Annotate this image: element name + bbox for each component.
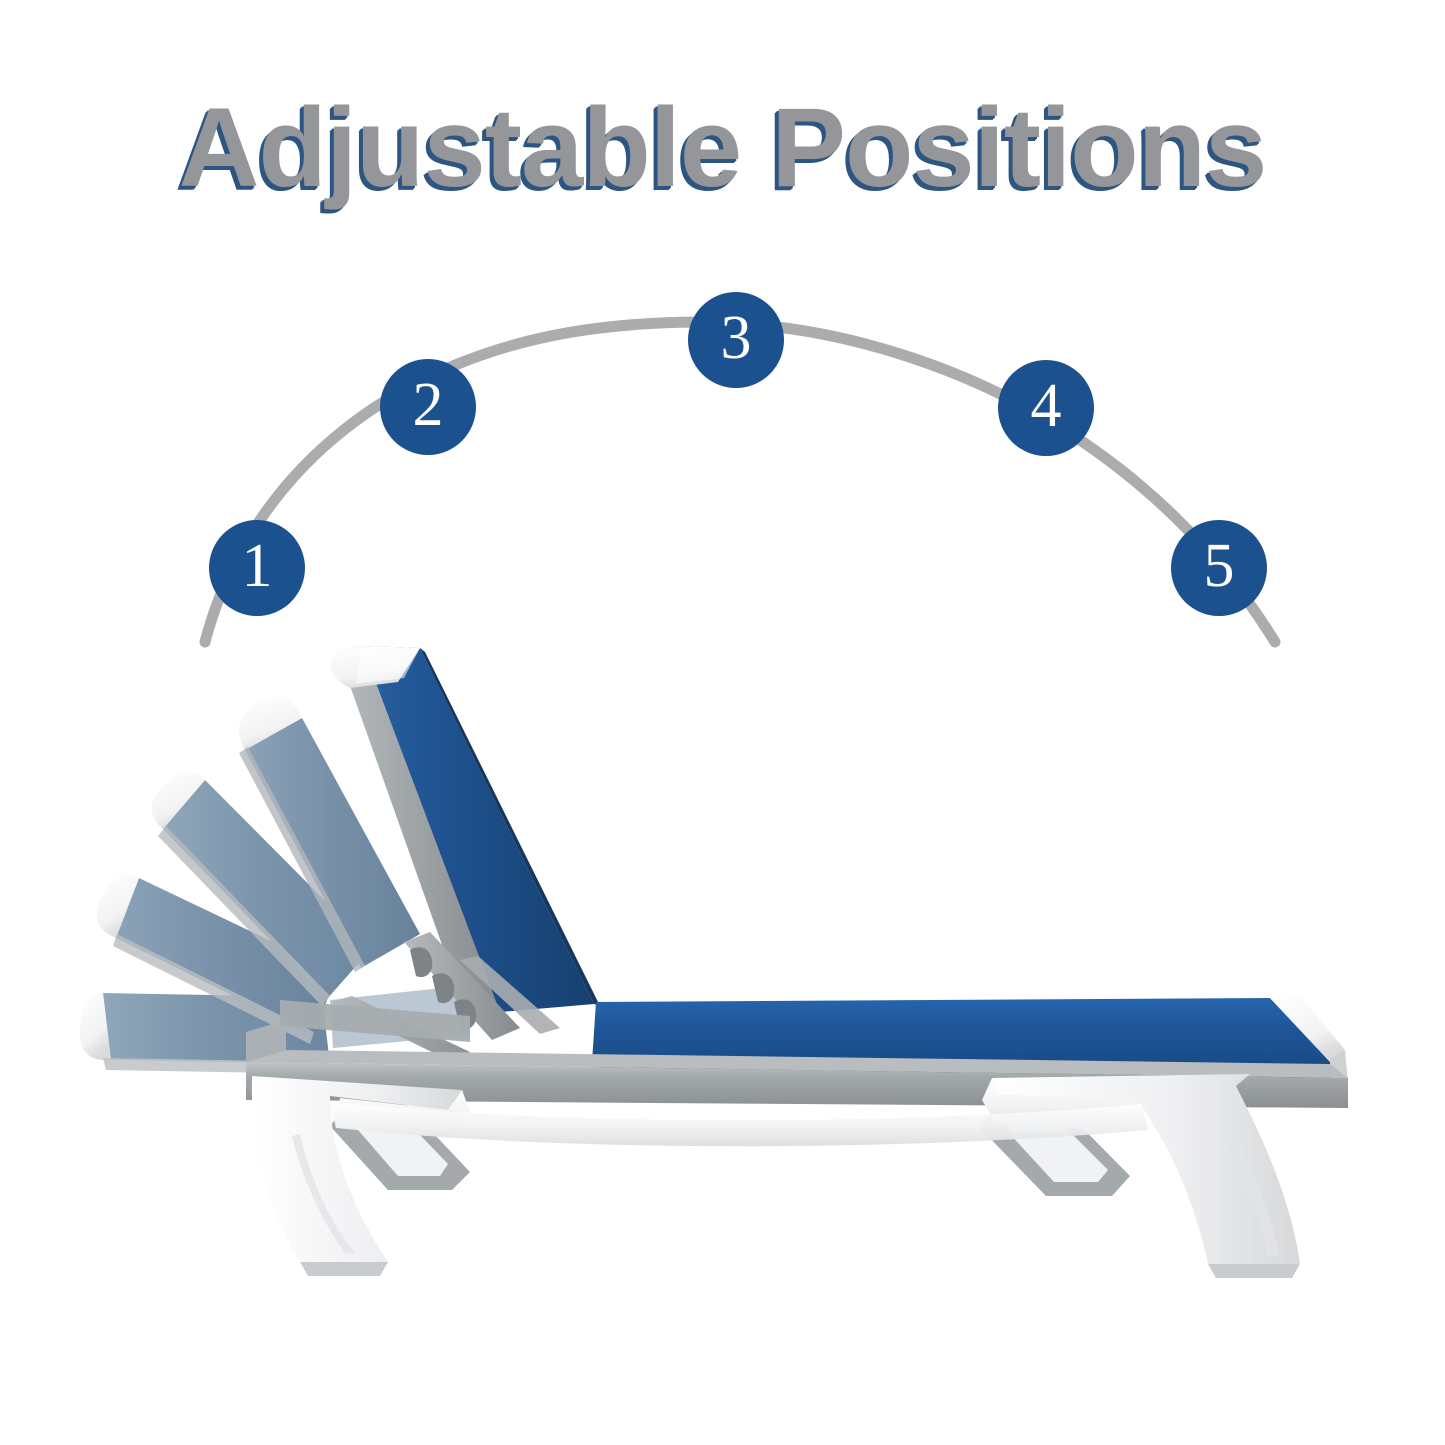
- step-marker-2[interactable]: 2: [380, 359, 476, 455]
- step-marker-3-label: 3: [721, 307, 752, 373]
- step-marker-4[interactable]: 4: [998, 360, 1094, 456]
- step-marker-3[interactable]: 3: [688, 292, 784, 388]
- step-marker-2-label: 2: [413, 374, 444, 440]
- product-illustration: [0, 0, 1445, 1445]
- chaise-lounge-group: [80, 646, 1348, 1278]
- infographic-canvas: Adjustable Positions: [0, 0, 1445, 1445]
- step-marker-5[interactable]: 5: [1171, 520, 1267, 616]
- step-marker-1[interactable]: 1: [209, 520, 305, 616]
- step-marker-1-label: 1: [242, 535, 273, 601]
- step-marker-4-label: 4: [1031, 375, 1062, 441]
- step-marker-5-label: 5: [1204, 535, 1235, 601]
